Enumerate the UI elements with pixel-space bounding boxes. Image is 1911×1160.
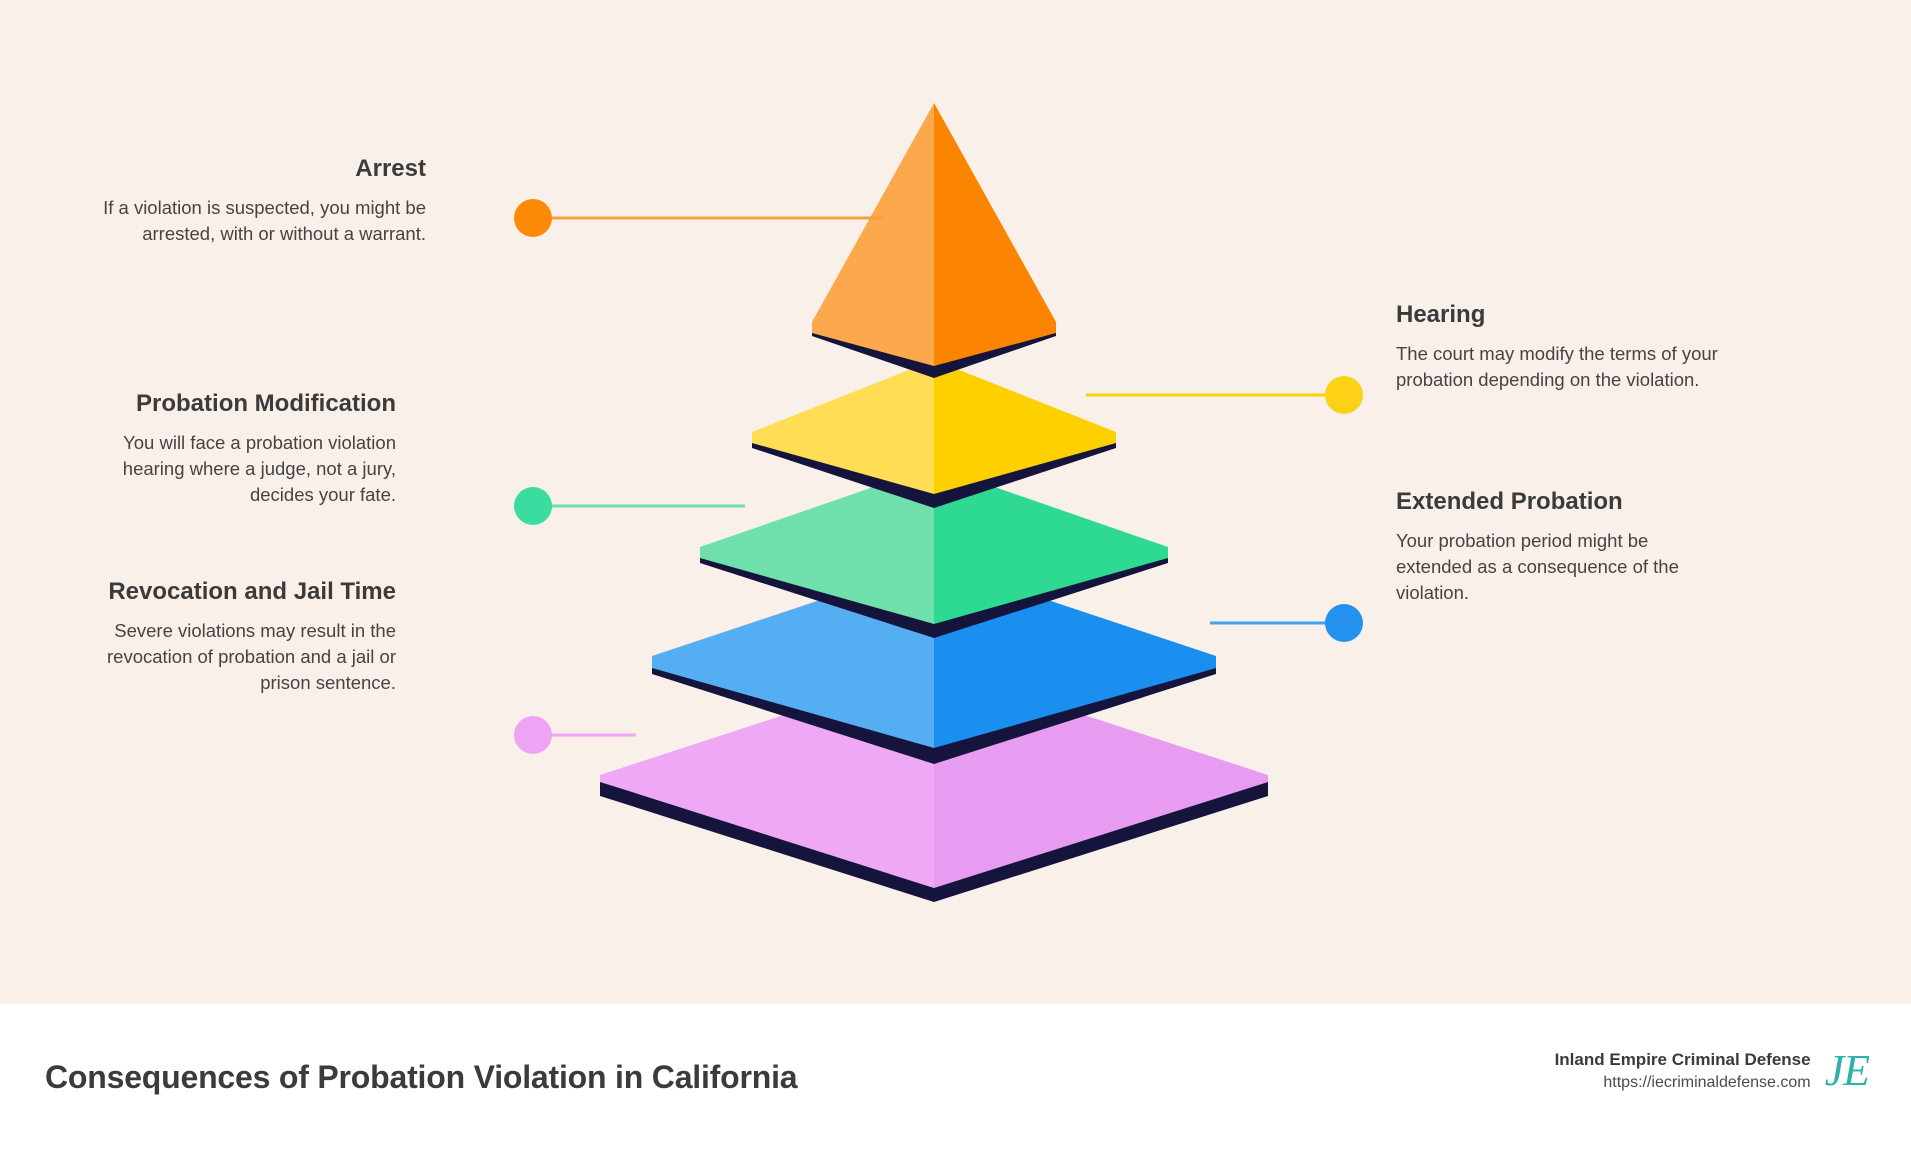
- callout-title-probation-modification: Probation Modification: [66, 390, 396, 419]
- callout-revocation-and-jail-time[interactable]: Revocation and Jail Time Severe violatio…: [66, 578, 396, 697]
- callout-title-arrest: Arrest: [96, 155, 426, 184]
- callout-desc-hearing: The court may modify the terms of your p…: [1396, 341, 1726, 394]
- dot-revoke[interactable]: [514, 716, 552, 754]
- callout-desc-arrest: If a violation is suspected, you might b…: [96, 195, 426, 248]
- infographic-root: Arrest If a violation is suspected, you …: [0, 0, 1911, 1160]
- callout-title-extended-probation: Extended Probation: [1396, 488, 1726, 517]
- footer-bar: Consequences of Probation Violation in C…: [0, 1004, 1911, 1160]
- dot-hearing[interactable]: [1325, 376, 1363, 414]
- pyramid-level-hearing[interactable]: [752, 360, 1116, 494]
- dot-probmod[interactable]: [514, 487, 552, 525]
- callout-extended-probation[interactable]: Extended Probation Your probation period…: [1396, 488, 1726, 607]
- callout-title-hearing: Hearing: [1396, 301, 1726, 330]
- callout-desc-extended-probation: Your probation period might be extended …: [1396, 528, 1726, 607]
- brand-url[interactable]: https://iecriminaldefense.com: [1555, 1072, 1811, 1094]
- dot-extended[interactable]: [1325, 604, 1363, 642]
- infographic-canvas: Arrest If a violation is suspected, you …: [0, 0, 1911, 1004]
- brand-logo-icon: JE: [1825, 1049, 1869, 1093]
- brand-block[interactable]: Inland Empire Criminal Defense https://i…: [1555, 1049, 1869, 1094]
- level-1-right-face: [934, 103, 1056, 366]
- pyramid-level-arrest[interactable]: [812, 103, 1056, 366]
- dot-arrest[interactable]: [514, 199, 552, 237]
- callout-desc-revocation-and-jail-time: Severe violations may result in the revo…: [66, 618, 396, 697]
- callout-probation-modification[interactable]: Probation Modification You will face a p…: [66, 390, 396, 509]
- callout-hearing[interactable]: Hearing The court may modify the terms o…: [1396, 301, 1726, 393]
- page-title: Consequences of Probation Violation in C…: [45, 1059, 797, 1096]
- brand-name: Inland Empire Criminal Defense: [1555, 1049, 1811, 1072]
- callout-title-revocation-and-jail-time: Revocation and Jail Time: [66, 578, 396, 607]
- callout-desc-probation-modification: You will face a probation violation hear…: [66, 430, 396, 509]
- callout-arrest[interactable]: Arrest If a violation is suspected, you …: [96, 155, 426, 247]
- level-1-left-face: [812, 103, 934, 366]
- brand-text: Inland Empire Criminal Defense https://i…: [1555, 1049, 1811, 1094]
